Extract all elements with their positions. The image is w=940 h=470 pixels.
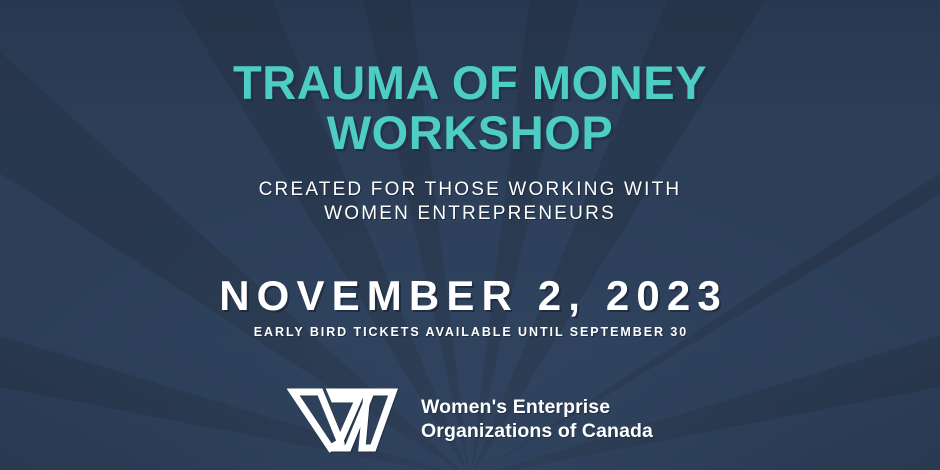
event-date: NOVEMBER 2, 2023 bbox=[212, 272, 728, 320]
organization-name: Women's Enterprise Organizations of Cana… bbox=[421, 396, 653, 444]
event-subtitle-line-1: CREATED FOR THOSE WORKING WITH bbox=[259, 178, 682, 202]
event-title-line-2: WORKSHOP bbox=[233, 110, 707, 157]
event-date-block: NOVEMBER 2, 2023 EARLY BIRD TICKETS AVAI… bbox=[212, 272, 728, 339]
organization-name-line-2: Organizations of Canada bbox=[421, 420, 653, 444]
event-title: TRAUMA OF MONEY WORKSHOP bbox=[233, 60, 707, 156]
event-title-line-1: TRAUMA OF MONEY bbox=[233, 60, 707, 107]
organization-name-line-1: Women's Enterprise bbox=[421, 396, 653, 420]
event-promo-banner: TRAUMA OF MONEY WORKSHOP CREATED FOR THO… bbox=[0, 0, 940, 470]
event-subtitle: CREATED FOR THOSE WORKING WITH WOMEN ENT… bbox=[259, 178, 682, 225]
early-bird-note: EARLY BIRD TICKETS AVAILABLE UNTIL SEPTE… bbox=[212, 325, 728, 339]
event-subtitle-line-2: WOMEN ENTREPRENEURS bbox=[259, 202, 682, 226]
weoc-w-monogram-icon bbox=[287, 386, 399, 454]
organization-logo-lockup: Women's Enterprise Organizations of Cana… bbox=[287, 386, 653, 454]
